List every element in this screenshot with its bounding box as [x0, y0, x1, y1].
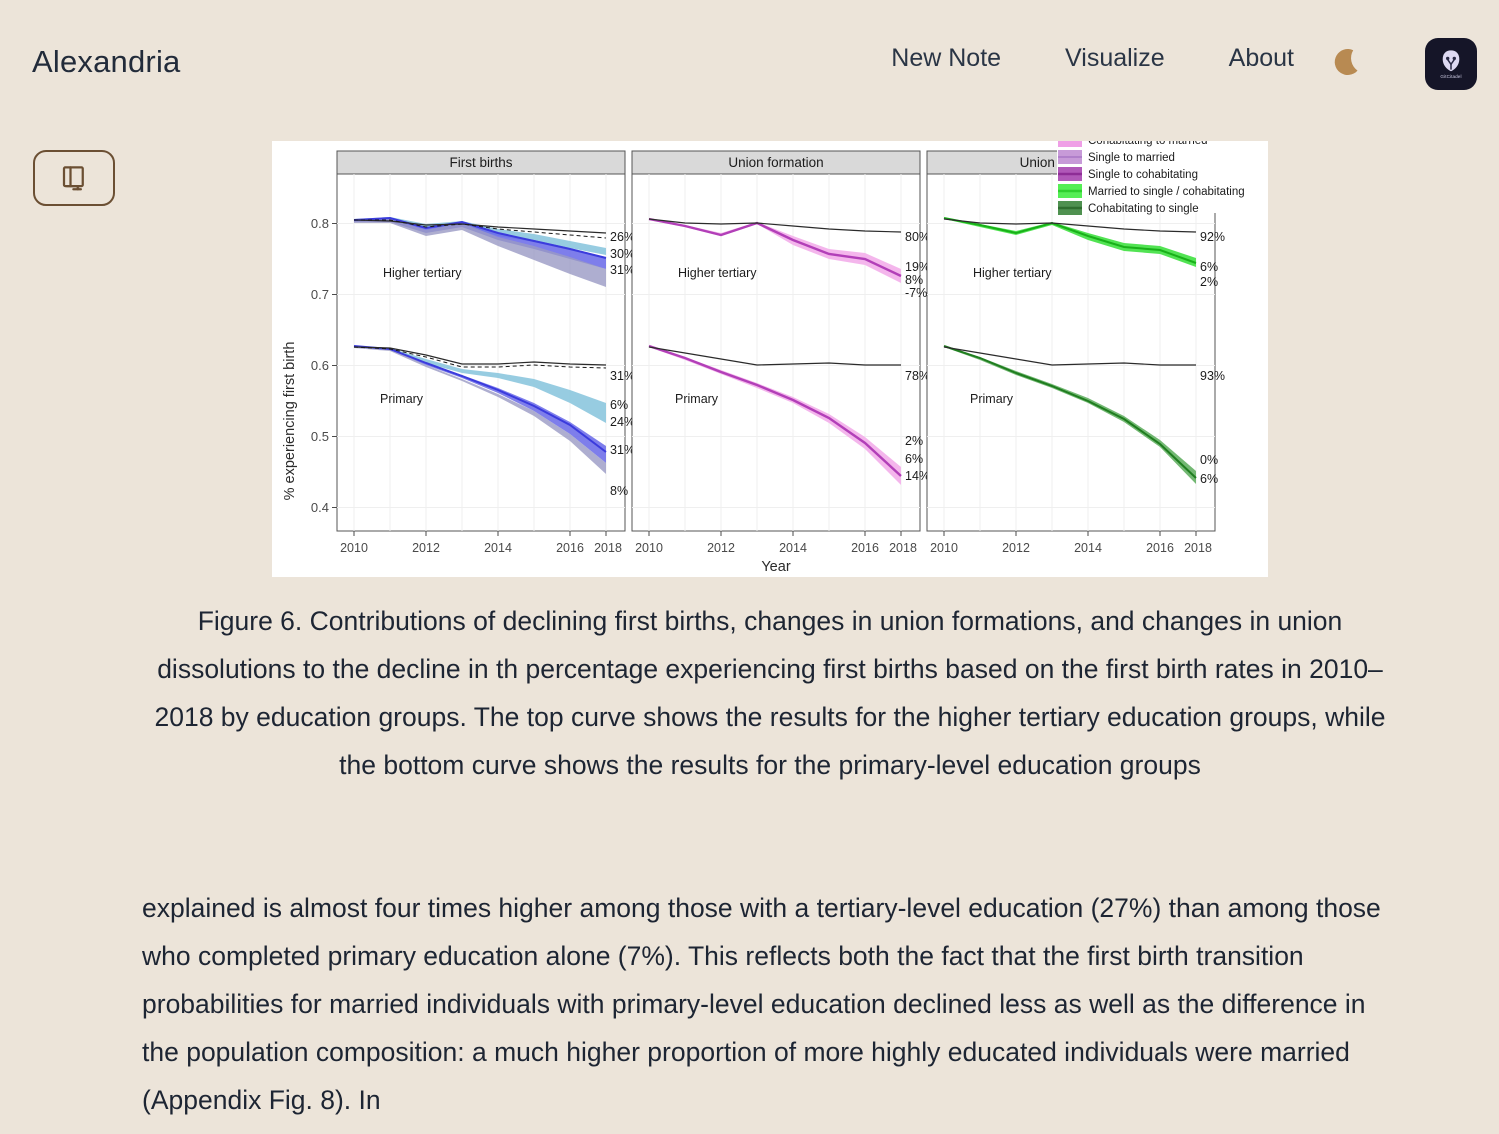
svg-text:2010: 2010 [930, 541, 958, 555]
chart-legend: Cohabitating to married Single to marrie… [1057, 141, 1267, 215]
svg-text:0.8: 0.8 [311, 216, 329, 231]
chart-x-axis-title: Year [761, 559, 790, 575]
panel-3-ann-p-1: 0% [1200, 453, 1218, 467]
legend-item-1: Single to married [1058, 150, 1175, 164]
panel-2-ann-ht-0: 80% [905, 230, 930, 244]
svg-text:2016: 2016 [851, 541, 879, 555]
panel-1-label-primary: Primary [380, 392, 424, 406]
panel-2-ann-ht-3: -7% [905, 286, 927, 300]
legend-label-4: Cohabitating to single [1088, 203, 1199, 215]
svg-text:2018: 2018 [889, 541, 917, 555]
panel-1-ann-ht-1: 30% [610, 247, 635, 261]
main-nav-links: New Note Visualize About [891, 44, 1294, 73]
figure-6-chart: % experiencing first birth 0.8 0.7 0.6 0… [272, 141, 1268, 577]
svg-text:2016: 2016 [1146, 541, 1174, 555]
panel-1-label-higher-tertiary: Higher tertiary [383, 266, 462, 280]
panel-first-births: First births Higher tertiary 26% 30% [337, 151, 635, 555]
open-library-button[interactable] [33, 150, 115, 206]
top-navigation-bar: Alexandria New Note Visualize About GitC… [0, 0, 1499, 128]
svg-text:2012: 2012 [1002, 541, 1030, 555]
svg-text:2018: 2018 [594, 541, 622, 555]
svg-text:2012: 2012 [707, 541, 735, 555]
svg-text:2014: 2014 [484, 541, 512, 555]
legend-label-1: Single to married [1088, 152, 1175, 164]
panel-2-ann-ht-1: 19% [905, 260, 930, 274]
panel-3-ann-ht-1: 6% [1200, 260, 1218, 274]
chart-y-axis-title: % experiencing first birth [282, 342, 298, 501]
nav-new-note[interactable]: New Note [891, 44, 1001, 73]
panel-union-formation: Union formation Higher tertiary 80% 19% … [632, 151, 930, 555]
panel-2-label-primary: Primary [675, 392, 719, 406]
legend-label-2: Single to cohabitating [1088, 169, 1198, 181]
gitcitadel-logo-button[interactable]: GitCitadel [1425, 38, 1477, 90]
panel-1-ann-p-0: 31% [610, 369, 635, 383]
figure-caption: Figure 6. Contributions of declining fir… [142, 597, 1398, 789]
panel-1-ann-p-1: 6% [610, 398, 628, 412]
nav-visualize[interactable]: Visualize [1065, 44, 1165, 73]
panel-3-ann-p-2: 6% [1200, 472, 1218, 486]
panel-3-ann-ht-2: 2% [1200, 275, 1218, 289]
panel-2-ann-p-0: 78% [905, 369, 930, 383]
panel-2-ann-p-2: 6% [905, 452, 923, 466]
panel-2-label-higher-tertiary: Higher tertiary [678, 266, 757, 280]
legend-item-2: Single to cohabitating [1058, 167, 1198, 181]
svg-text:2018: 2018 [1184, 541, 1212, 555]
article-paragraph: explained is almost four times higher am… [142, 884, 1398, 1124]
panel-2-title: Union formation [728, 155, 823, 170]
panel-3-ann-p-0: 93% [1200, 369, 1225, 383]
svg-text:2014: 2014 [1074, 541, 1102, 555]
svg-text:2014: 2014 [779, 541, 807, 555]
panel-3-label-primary: Primary [970, 392, 1014, 406]
gitcitadel-logo-icon [1438, 48, 1464, 74]
panel-1-ann-p-4: 8% [610, 484, 628, 498]
svg-text:0.4: 0.4 [311, 500, 329, 515]
panel-1-ann-p-2: 24% [610, 415, 635, 429]
gitcitadel-logo-caption: GitCitadel [1440, 75, 1461, 80]
svg-text:2012: 2012 [412, 541, 440, 555]
legend-label-3: Married to single / cohabitating [1088, 186, 1245, 198]
panel-3-label-higher-tertiary: Higher tertiary [973, 266, 1052, 280]
figure-image-container: % experiencing first birth 0.8 0.7 0.6 0… [272, 141, 1268, 577]
legend-item-4: Cohabitating to single [1058, 201, 1199, 215]
panel-2-ann-ht-2: 8% [905, 273, 923, 287]
svg-text:0.7: 0.7 [311, 287, 329, 302]
svg-text:2016: 2016 [556, 541, 584, 555]
panel-1-title: First births [449, 155, 512, 170]
nav-about[interactable]: About [1229, 44, 1294, 73]
panel-1-ann-ht-2: 31% [610, 263, 635, 277]
panel-1-ann-p-3: 31% [610, 443, 635, 457]
svg-text:0.5: 0.5 [311, 429, 329, 444]
panel-2-ann-p-1: 2% [905, 434, 923, 448]
book-icon [59, 163, 89, 193]
legend-label-0: Cohabitating to married [1088, 141, 1208, 147]
panel-3-ann-ht-0: 92% [1200, 230, 1225, 244]
panel-1-ann-ht-0: 26% [610, 230, 635, 244]
moon-icon [1329, 44, 1369, 84]
dark-mode-toggle-button[interactable] [1327, 42, 1371, 86]
svg-text:2010: 2010 [635, 541, 663, 555]
app-brand-title[interactable]: Alexandria [32, 44, 180, 80]
panel-2-ann-p-3: 14% [905, 469, 930, 483]
svg-text:0.6: 0.6 [311, 358, 329, 373]
legend-item-0: Cohabitating to married [1058, 141, 1208, 147]
svg-text:2010: 2010 [340, 541, 368, 555]
